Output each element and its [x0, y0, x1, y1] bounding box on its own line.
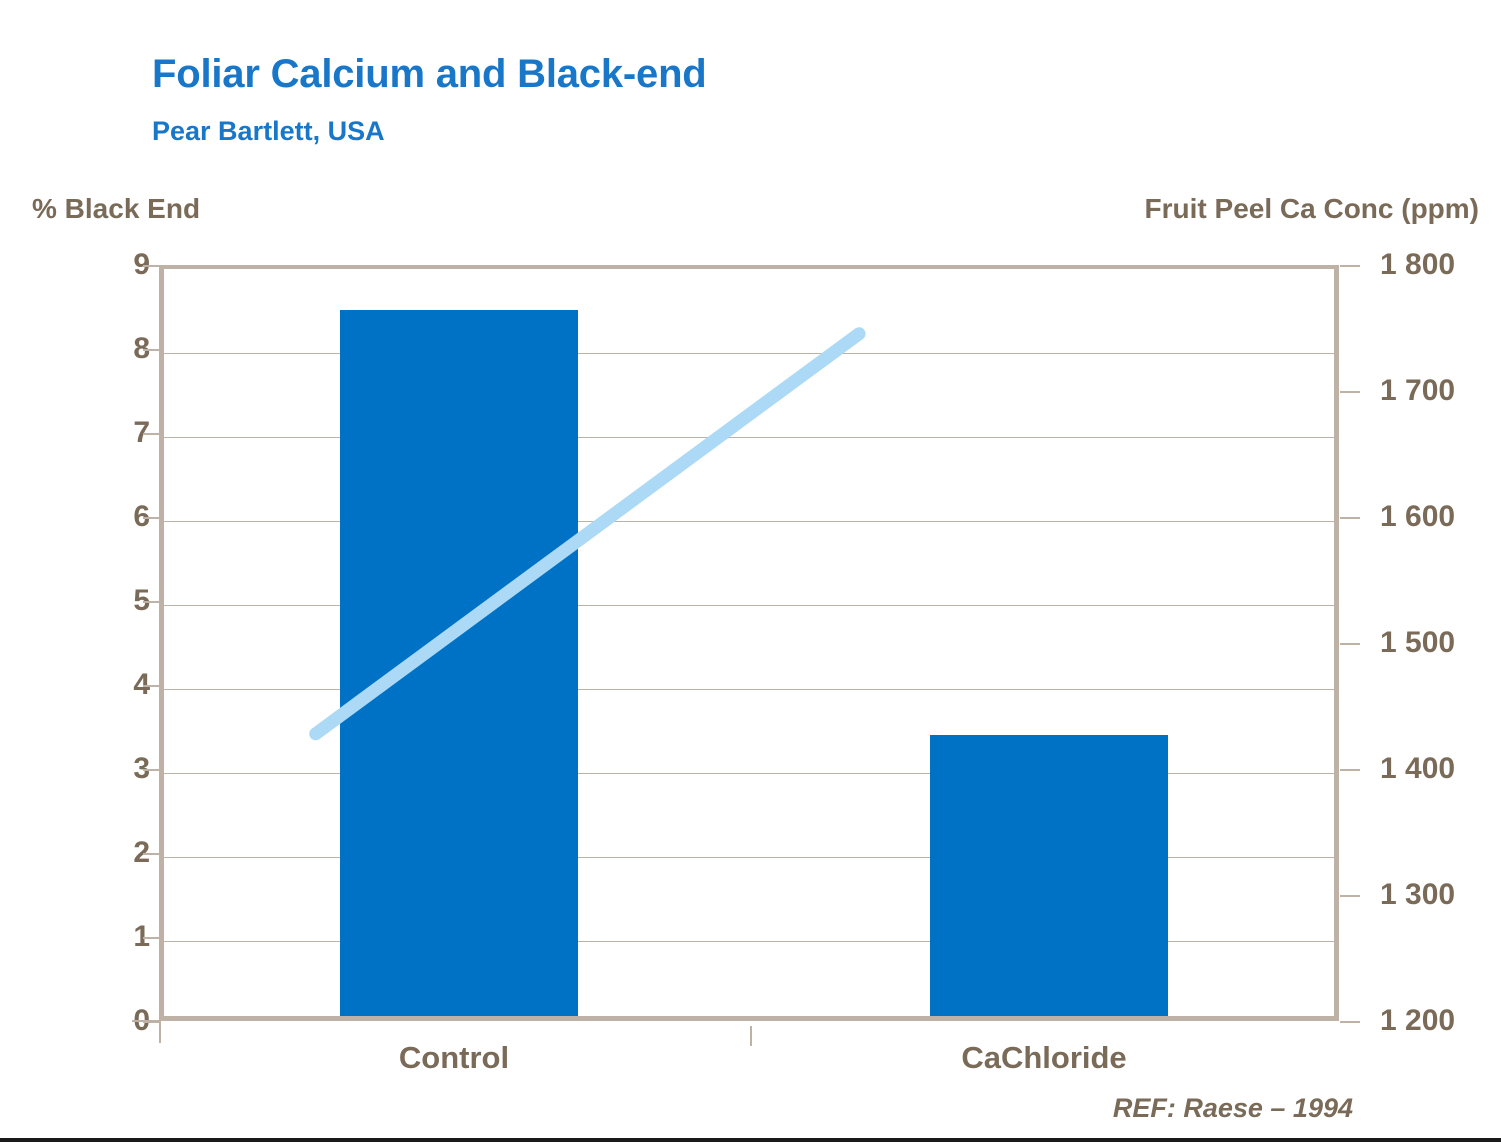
bar-series — [164, 269, 1334, 1016]
left-axis-tick-label: 8 — [80, 332, 150, 366]
right-axis-title: Fruit Peel Ca Conc (ppm) — [1145, 193, 1479, 225]
left-axis-tick-label: 6 — [80, 500, 150, 534]
right-axis-tick-mark — [1340, 895, 1360, 897]
baseline-start-tick — [159, 1021, 161, 1043]
page-title: Foliar Calcium and Black-end — [152, 52, 707, 97]
left-axis-tick-label: 2 — [80, 836, 150, 870]
left-axis-tick-label: 3 — [80, 752, 150, 786]
baseline-outer-tick — [132, 1020, 160, 1022]
left-axis-tick-mark — [143, 433, 159, 435]
right-axis-tick-mark — [1340, 391, 1360, 393]
category-divider-tick — [750, 1026, 752, 1046]
category-label: Control — [399, 1040, 509, 1076]
left-axis-tick-label: 9 — [80, 248, 150, 282]
right-axis-tick-mark — [1340, 265, 1360, 267]
left-axis-tick-label: 5 — [80, 584, 150, 618]
right-axis-tick-label: 1 500 — [1380, 626, 1455, 660]
right-axis-tick-mark — [1340, 1021, 1360, 1023]
plot-area — [159, 265, 1339, 1021]
bottom-rule — [0, 1138, 1501, 1142]
left-axis-tick-mark — [143, 685, 159, 687]
right-axis-tick-label: 1 700 — [1380, 374, 1455, 408]
left-axis-tick-label: 4 — [80, 668, 150, 702]
page-subtitle: Pear Bartlett, USA — [152, 116, 385, 147]
left-axis-tick-mark — [143, 265, 159, 267]
category-label: CaChloride — [961, 1040, 1126, 1076]
left-axis-tick-label: 1 — [80, 920, 150, 954]
left-axis-tick-mark — [143, 601, 159, 603]
right-axis-tick-label: 1 600 — [1380, 500, 1455, 534]
left-axis-tick-mark — [143, 349, 159, 351]
right-axis-tick-mark — [1340, 517, 1360, 519]
left-axis-tick-mark — [143, 517, 159, 519]
right-axis-tick-label: 1 200 — [1380, 1004, 1455, 1038]
left-axis-tick-mark — [143, 937, 159, 939]
right-axis-tick-mark — [1340, 643, 1360, 645]
bar — [340, 310, 578, 1016]
right-axis-tick-label: 1 300 — [1380, 878, 1455, 912]
left-axis-tick-label: 7 — [80, 416, 150, 450]
left-axis-tick-mark — [143, 769, 159, 771]
right-axis-tick-label: 1 400 — [1380, 752, 1455, 786]
bar — [930, 735, 1168, 1016]
left-axis-title: % Black End — [32, 193, 200, 225]
left-axis-tick-mark — [143, 853, 159, 855]
right-axis-tick-mark — [1340, 769, 1360, 771]
right-axis-tick-label: 1 800 — [1380, 248, 1455, 282]
reference-note: REF: Raese – 1994 — [1113, 1093, 1353, 1124]
